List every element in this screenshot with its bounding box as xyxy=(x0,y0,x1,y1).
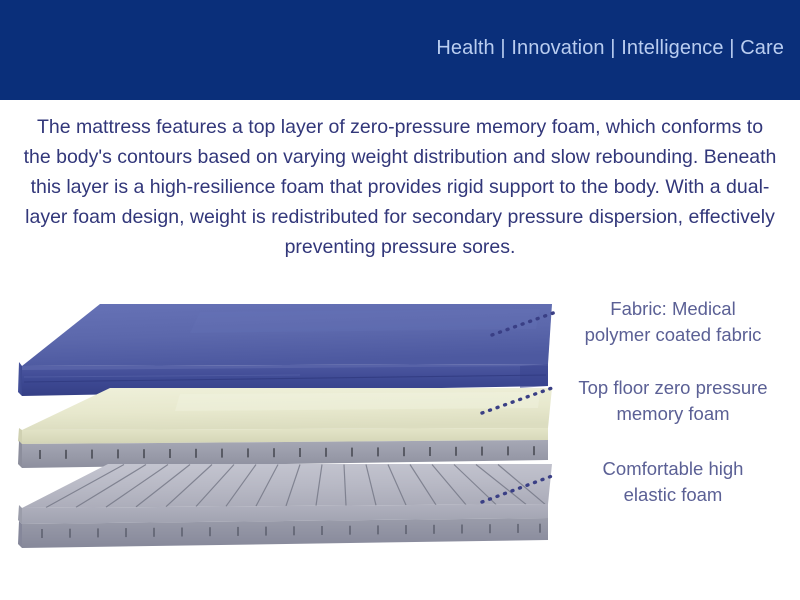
callout-elastic-line1: Comfortable high xyxy=(548,456,798,482)
header-tagline: Health | Innovation | Intelligence | Car… xyxy=(436,37,784,60)
elastic-foam-layer xyxy=(0,458,580,578)
callout-memory-line2: memory foam xyxy=(548,401,798,427)
header-bar: Health | Innovation | Intelligence | Car… xyxy=(0,0,800,100)
callout-memory-foam: Top floor zero pressure memory foam xyxy=(548,375,798,427)
callout-fabric-line1: Fabric: Medical xyxy=(548,296,798,322)
callout-fabric-line2: polymer coated fabric xyxy=(548,322,798,348)
product-description: The mattress features a top layer of zer… xyxy=(22,112,778,262)
callout-elastic-line2: elastic foam xyxy=(548,482,798,508)
callout-elastic-foam: Comfortable high elastic foam xyxy=(548,456,798,508)
callout-memory-line1: Top floor zero pressure xyxy=(548,375,798,401)
callout-fabric-cover: Fabric: Medical polymer coated fabric xyxy=(548,296,798,348)
